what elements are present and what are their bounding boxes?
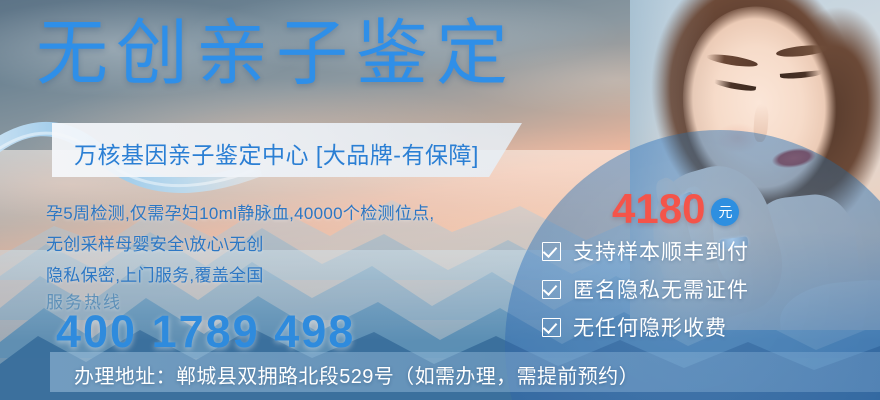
body-copy-line: 无创采样母婴安全\放心\无创: [46, 229, 434, 260]
subtitle-text: 万核基因亲子鉴定中心 [大品牌-有保障]: [74, 136, 479, 170]
feature-label: 无任何隐形收费: [573, 312, 727, 342]
feature-label: 支持样本顺丰到付: [573, 236, 749, 266]
feature-item: 匿名隐私无需证件: [542, 270, 749, 308]
body-copy-line: 孕5周检测,仅需孕妇10ml静脉血,40000个检测位点,: [46, 198, 434, 229]
feature-item: 无任何隐形收费: [542, 308, 749, 346]
checkbox-checked-icon: [542, 242, 561, 261]
advertisement-banner: 无创亲子鉴定 万核基因亲子鉴定中心 [大品牌-有保障] 孕5周检测,仅需孕妇10…: [0, 0, 880, 400]
address-text: 办理地址：郸城县双拥路北段529号（如需办理，需提前预约）: [74, 360, 639, 389]
feature-item: 支持样本顺丰到付: [542, 232, 749, 270]
body-copy-line: 隐私保密,上门服务,覆盖全国: [46, 260, 434, 291]
price-block: 4180 元: [612, 188, 739, 230]
feature-label: 匿名隐私无需证件: [573, 274, 749, 304]
hotline-phone-number[interactable]: 400 1789 498: [56, 306, 355, 358]
body-copy-block: 孕5周检测,仅需孕妇10ml静脉血,40000个检测位点, 无创采样母婴安全\放…: [46, 198, 434, 291]
checkbox-checked-icon: [542, 318, 561, 337]
checkbox-checked-icon: [542, 280, 561, 299]
page-title: 无创亲子鉴定: [36, 18, 516, 90]
feature-list: 支持样本顺丰到付 匿名隐私无需证件 无任何隐形收费: [542, 232, 749, 346]
price-unit-badge: 元: [711, 198, 739, 226]
price-amount: 4180: [612, 188, 705, 230]
